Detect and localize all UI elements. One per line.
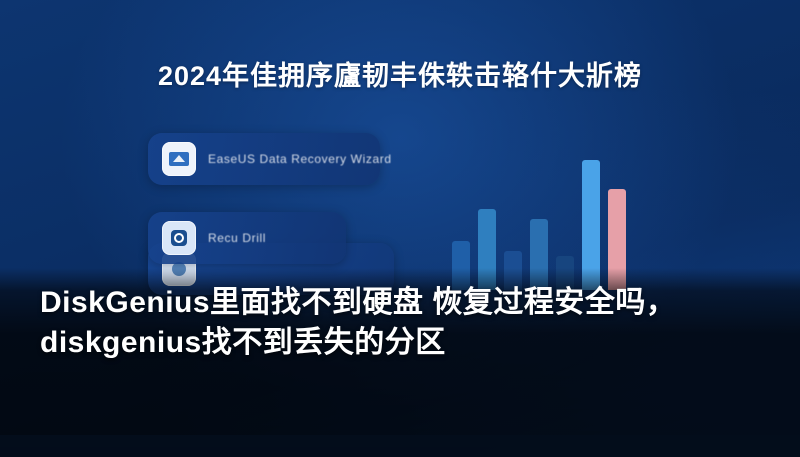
list-item-label: Recu Drill — [208, 231, 266, 245]
app-icon-recuva — [162, 221, 196, 255]
list-item-label: EaseUS Data Recovery Wizard — [208, 152, 392, 166]
poster-title: 2024年佳拥序廬韧丰侏轶击辂什大斨榜 — [0, 54, 800, 93]
app-icon-easeus — [162, 142, 196, 176]
list-item[interactable]: Recu Drill — [148, 212, 346, 264]
list-item[interactable]: EaseUS Data Recovery Wizard — [148, 133, 380, 185]
screenshot-stage: 2024年佳拥序廬韧丰侏轶击辂什大斨榜 EaseUS Data Recovery… — [0, 0, 800, 457]
caption-text: DiskGenius里面找不到硬盘 恢复过程安全吗，diskgenius找不到丢… — [40, 283, 776, 362]
